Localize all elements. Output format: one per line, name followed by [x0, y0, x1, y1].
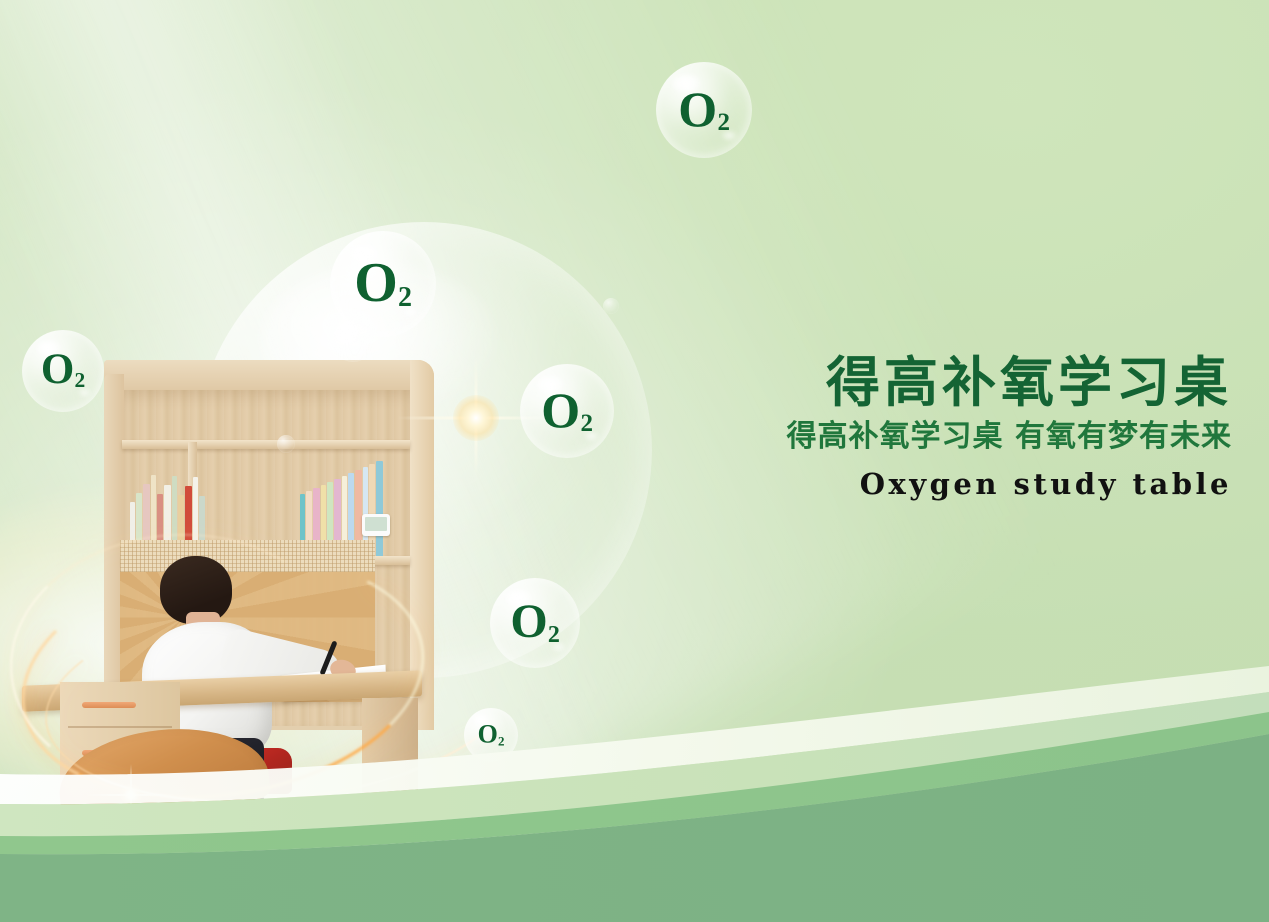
headline-block: 得高补氧学习桌 得高补氧学习桌 有氧有梦有未来 Oxygen study tab…: [640, 352, 1232, 504]
product-tagline: 得高补氧学习桌 有氧有梦有未来: [640, 418, 1232, 456]
poster-canvas: O2 O2 O2 O2 O2 O2: [0, 0, 1269, 922]
product-title-english: Oxygen study table: [640, 466, 1232, 504]
product-title: 得高补氧学习桌: [640, 352, 1232, 412]
